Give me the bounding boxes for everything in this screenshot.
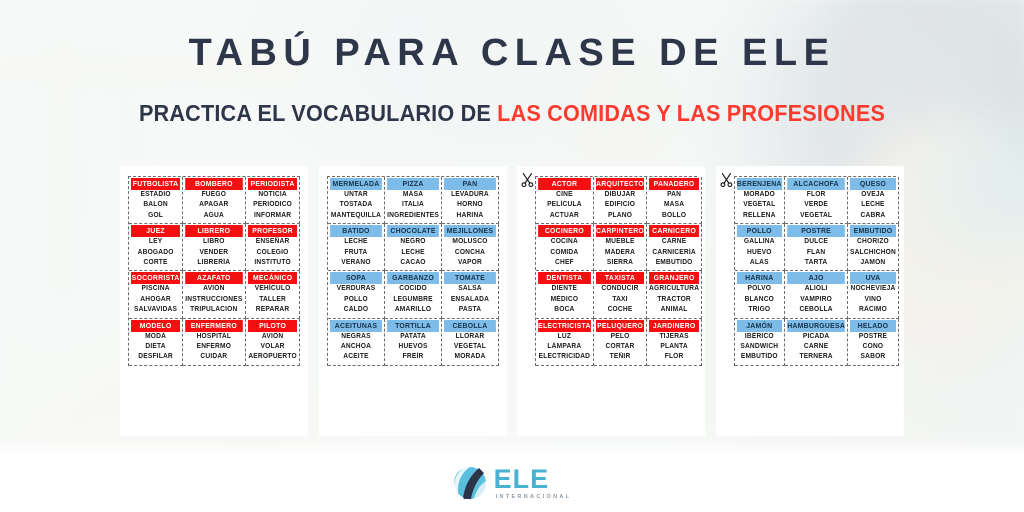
page-subtitle: PRACTICA EL VOCABULARIO DE LAS COMIDAS Y… xyxy=(31,100,994,127)
taboo-cell-forbidden-word: PERIÓDICO xyxy=(248,200,297,210)
taboo-card-cells: BERENJENAMORADOVEGETALRELLENAALCACHOFAFL… xyxy=(734,176,896,366)
taboo-cell-forbidden-word: AGUA xyxy=(185,211,242,221)
taboo-cell-keyword: PIZZA xyxy=(387,178,439,190)
taboo-cell: COCINEROCOCINACOMIDACHEF xyxy=(536,224,594,271)
taboo-cell-keyword: ACTOR xyxy=(538,178,591,190)
taboo-cell: MECÁNICOVEHÍCULOTALLERREPARAR xyxy=(246,271,300,318)
taboo-cell-keyword: ELECTRICISTA xyxy=(538,320,591,332)
taboo-cell-forbidden-word: NOTICIA xyxy=(248,190,297,200)
taboo-cell-forbidden-word: NOCHEVIEJA xyxy=(850,284,896,294)
taboo-cell: MERMELADAUNTARTOSTADAMANTEQUILLA xyxy=(328,177,385,224)
taboo-cell-forbidden-word: INGREDIENTES xyxy=(387,211,439,221)
taboo-cell: TOMATESALSAENSALADAPASTA xyxy=(442,271,499,318)
taboo-cell-forbidden-word: VENDER xyxy=(185,248,242,258)
taboo-cell-forbidden-word: APAGAR xyxy=(185,200,242,210)
taboo-cell-forbidden-word: ABOGADO xyxy=(131,248,180,258)
taboo-cell-forbidden-word: CINE xyxy=(538,190,591,200)
taboo-cell: CEBOLLALLORARVEGETALMORADA xyxy=(442,319,499,366)
taboo-cell-keyword: LIBRERO xyxy=(185,225,242,237)
taboo-cell-keyword: CARPINTERO xyxy=(596,225,644,237)
taboo-cell-forbidden-word: PASTA xyxy=(444,305,496,315)
taboo-cell-keyword: CHOCOLATE xyxy=(387,225,439,237)
taboo-cell-keyword: AJO xyxy=(787,272,845,284)
taboo-cell: PANLEVADURAHORNOHARINA xyxy=(442,177,499,224)
taboo-cell-forbidden-word: JAMÓN xyxy=(850,258,896,268)
taboo-cell-keyword: PILOTO xyxy=(248,320,297,332)
taboo-cell-forbidden-word: AMARILLO xyxy=(387,305,439,315)
taboo-cell-forbidden-word: FUEGO xyxy=(185,190,242,200)
taboo-cell-forbidden-word: INSTRUCCIONES xyxy=(185,295,242,305)
taboo-cell-forbidden-word: EMBUTIDO xyxy=(649,258,699,268)
taboo-cell-forbidden-word: BALÓN xyxy=(131,200,180,210)
taboo-cell-forbidden-word: MANTEQUILLA xyxy=(330,211,382,221)
taboo-cell-keyword: CEBOLLA xyxy=(444,320,496,332)
taboo-cell-forbidden-word: OVEJA xyxy=(850,190,896,200)
taboo-cell-forbidden-word: ANCHOA xyxy=(330,342,382,352)
taboo-cell: HAMBURGUESAPICADACARNETERNERA xyxy=(785,319,848,366)
logo-tagline: INTERNACIONAL xyxy=(496,495,572,500)
taboo-cell-forbidden-word: PELÍCULA xyxy=(538,200,591,210)
scissors-icon xyxy=(521,172,535,188)
scissors-icon xyxy=(720,172,734,188)
taboo-card: BERENJENAMORADOVEGETALRELLENAALCACHOFAFL… xyxy=(716,166,904,436)
taboo-cell-forbidden-word: FREÍR xyxy=(387,352,439,362)
taboo-cell-forbidden-word: VERANO xyxy=(330,258,382,268)
taboo-cell: PIZZAMASAITALIAINGREDIENTES xyxy=(385,177,442,224)
taboo-cell-forbidden-word: DESFILAR xyxy=(131,352,180,362)
taboo-cell-forbidden-word: CARNE xyxy=(787,342,845,352)
taboo-cell-forbidden-word: TRIGO xyxy=(737,305,782,315)
taboo-cell-forbidden-word: VAMPIRO xyxy=(787,295,845,305)
taboo-cell: PANADEROPANMASABOLLO xyxy=(647,177,702,224)
taboo-cell-keyword: ARQUITECTO xyxy=(596,178,644,190)
taboo-cell: QUESOOVEJALECHECABRA xyxy=(848,177,899,224)
taboo-cell: JUEZLEYABOGADOCORTE xyxy=(129,224,183,271)
taboo-cell-forbidden-word: PLANO xyxy=(596,211,644,221)
taboo-cell-forbidden-word: COCHE xyxy=(596,305,644,315)
taboo-cell-forbidden-word: CONDUCIR xyxy=(596,284,644,294)
taboo-cell-forbidden-word: GALLINA xyxy=(737,237,782,247)
taboo-cell: JAMÓNIBÉRICOSANDWICHEMBUTIDO xyxy=(735,319,785,366)
taboo-cell-forbidden-word: RACIMO xyxy=(850,305,896,315)
taboo-cell-keyword: SOCORRISTA xyxy=(131,272,180,284)
taboo-cell: ENFERMEROHOSPITALENFERMOCUIDAR xyxy=(183,319,246,366)
taboo-cell-forbidden-word: DULCE xyxy=(787,237,845,247)
taboo-cell-keyword: SOPA xyxy=(330,272,382,284)
taboo-cell-keyword: ENFERMERO xyxy=(185,320,242,332)
taboo-cell-forbidden-word: BOCA xyxy=(538,305,591,315)
taboo-cell: POSTREDULCEFLANTARTA xyxy=(785,224,848,271)
taboo-cell-forbidden-word: CUIDAR xyxy=(185,352,242,362)
taboo-cell-forbidden-word: CABRA xyxy=(850,211,896,221)
taboo-cell-forbidden-word: ACEITE xyxy=(330,352,382,362)
taboo-cell-forbidden-word: CHEF xyxy=(538,258,591,268)
taboo-cell: ACTORCINEPELÍCULAACTUAR xyxy=(536,177,594,224)
taboo-cell-forbidden-word: EDIFICIO xyxy=(596,200,644,210)
taboo-cell-forbidden-word: SALSA xyxy=(444,284,496,294)
taboo-cell-forbidden-word: AGRICULTURA xyxy=(649,284,699,294)
taboo-cell-keyword: MEJILLONES xyxy=(444,225,496,237)
taboo-cell-keyword: BOMBERO xyxy=(185,178,242,190)
taboo-cell-forbidden-word: DIBUJAR xyxy=(596,190,644,200)
taboo-cell-forbidden-word: FLOR xyxy=(649,352,699,362)
taboo-cell: TAXISTACONDUCIRTAXICOCHE xyxy=(594,271,647,318)
taboo-cell: MEJILLONESMOLUSCOCONCHAVAPOR xyxy=(442,224,499,271)
taboo-cell-forbidden-word: TRACTOR xyxy=(649,295,699,305)
taboo-cell-forbidden-word: INSTITUTO xyxy=(248,258,297,268)
taboo-card-cells: MERMELADAUNTARTOSTADAMANTEQUILLAPIZZAMAS… xyxy=(327,176,499,366)
taboo-cell-forbidden-word: COMIDA xyxy=(538,248,591,258)
taboo-cell: PILOTOAVIÓNVOLARAEROPUERTO xyxy=(246,319,300,366)
taboo-cell-forbidden-word: HUEVOS xyxy=(387,342,439,352)
taboo-cell-forbidden-word: ANIMAL xyxy=(649,305,699,315)
taboo-cell-forbidden-word: ALIOLI xyxy=(787,284,845,294)
taboo-cell-keyword: MERMELADA xyxy=(330,178,382,190)
taboo-cell-forbidden-word: IBÉRICO xyxy=(737,332,782,342)
taboo-cell-forbidden-word: BOLLO xyxy=(649,211,699,221)
taboo-cell-keyword: TORTILLA xyxy=(387,320,439,332)
taboo-cell: JARDINEROTIJERASPLANTAFLOR xyxy=(647,319,702,366)
taboo-cell-forbidden-word: CORTAR xyxy=(596,342,644,352)
taboo-cell-keyword: JARDINERO xyxy=(649,320,699,332)
page-title: TABÚ PARA CLASE DE ELE xyxy=(0,34,1024,74)
taboo-cell-keyword: FUTBOLISTA xyxy=(131,178,180,190)
taboo-cell-forbidden-word: LEY xyxy=(131,237,180,247)
taboo-cell-forbidden-word: LEVADURA xyxy=(444,190,496,200)
taboo-cell: CHOCOLATENEGROLECHECACAO xyxy=(385,224,442,271)
taboo-cell-forbidden-word: PAN xyxy=(649,190,699,200)
taboo-cell-keyword: UVA xyxy=(850,272,896,284)
taboo-cell-keyword: POSTRE xyxy=(787,225,845,237)
taboo-cell-forbidden-word: AHOGAR xyxy=(131,295,180,305)
taboo-cell-keyword: MECÁNICO xyxy=(248,272,297,284)
taboo-cell-forbidden-word: VERDURAS xyxy=(330,284,382,294)
taboo-cell: UVANOCHEVIEJAVINORACIMO xyxy=(848,271,899,318)
taboo-card-cells: ACTORCINEPELÍCULAACTUARARQUITECTODIBUJAR… xyxy=(535,176,697,366)
taboo-cell-forbidden-word: VOLAR xyxy=(248,342,297,352)
taboo-cell-forbidden-word: CALDO xyxy=(330,305,382,315)
taboo-cell-keyword: HARINA xyxy=(737,272,782,284)
taboo-cell-forbidden-word: LEGUMBRE xyxy=(387,295,439,305)
taboo-cell-forbidden-word: LÁMPARA xyxy=(538,342,591,352)
taboo-cell-forbidden-word: TARTA xyxy=(787,258,845,268)
poster-canvas: TABÚ PARA CLASE DE ELE PRACTICA EL VOCAB… xyxy=(0,0,1024,512)
taboo-cell-forbidden-word: HARINA xyxy=(444,211,496,221)
taboo-cell-forbidden-word: LIBRO xyxy=(185,237,242,247)
taboo-cell-forbidden-word: HUEVO xyxy=(737,248,782,258)
taboo-cell-forbidden-word: MÉDICO xyxy=(538,295,591,305)
taboo-cell-keyword: POLLO xyxy=(737,225,782,237)
taboo-cell-keyword: COCINERO xyxy=(538,225,591,237)
taboo-cell-forbidden-word: VAPOR xyxy=(444,258,496,268)
taboo-cell-forbidden-word: FLAN xyxy=(787,248,845,258)
taboo-cell: ACEITUNASNEGRASANCHOAACEITE xyxy=(328,319,385,366)
taboo-cell-forbidden-word: FRUTA xyxy=(330,248,382,258)
taboo-cell: AZAFATOAVIÓNINSTRUCCIONESTRIPULACIÓN xyxy=(183,271,246,318)
taboo-cell-keyword: HELADO xyxy=(850,320,896,332)
taboo-cell-keyword: PERIODISTA xyxy=(248,178,297,190)
taboo-cell-forbidden-word: COCIDO xyxy=(387,284,439,294)
taboo-card-grid: FUTBOLISTAESTADIOBALÓNGOLBOMBEROFUEGOAPA… xyxy=(120,166,904,436)
taboo-cell-keyword: AZAFATO xyxy=(185,272,242,284)
taboo-cell-forbidden-word: AEROPUERTO xyxy=(248,352,297,362)
taboo-cell-keyword: JAMÓN xyxy=(737,320,782,332)
taboo-cell-forbidden-word: LLORAR xyxy=(444,332,496,342)
taboo-cell: PERIODISTANOTICIAPERIÓDICOINFORMAR xyxy=(246,177,300,224)
taboo-cell-forbidden-word: TIJERAS xyxy=(649,332,699,342)
taboo-cell-forbidden-word: TAXI xyxy=(596,295,644,305)
taboo-cell-keyword: BERENJENA xyxy=(737,178,782,190)
taboo-cell-forbidden-word: TERNERA xyxy=(787,352,845,362)
taboo-cell-forbidden-word: COCINA xyxy=(538,237,591,247)
taboo-cell-forbidden-word: HORNO xyxy=(444,200,496,210)
taboo-cell: CARPINTEROMUEBLEMADERASIERRA xyxy=(594,224,647,271)
taboo-cell-forbidden-word: MASA xyxy=(649,200,699,210)
taboo-cell-keyword: PANADERO xyxy=(649,178,699,190)
taboo-cell: FUTBOLISTAESTADIOBALÓNGOL xyxy=(129,177,183,224)
taboo-cell-forbidden-word: DIENTE xyxy=(538,284,591,294)
taboo-card: ACTORCINEPELÍCULAACTUARARQUITECTODIBUJAR… xyxy=(517,166,705,436)
taboo-cell-forbidden-word: UNTAR xyxy=(330,190,382,200)
taboo-cell-forbidden-word: POLVO xyxy=(737,284,782,294)
taboo-cell-forbidden-word: CONO xyxy=(850,342,896,352)
taboo-card-cells: FUTBOLISTAESTADIOBALÓNGOLBOMBEROFUEGOAPA… xyxy=(128,176,300,366)
taboo-cell-keyword: CARNICERO xyxy=(649,225,699,237)
taboo-cell: PELUQUEROPELOCORTARTEÑIR xyxy=(594,319,647,366)
taboo-cell-keyword: TOMATE xyxy=(444,272,496,284)
taboo-cell: SOPAVERDURASPOLLOCALDO xyxy=(328,271,385,318)
taboo-cell-forbidden-word: ACTUAR xyxy=(538,211,591,221)
taboo-cell-forbidden-word: LIBRERÍA xyxy=(185,258,242,268)
taboo-cell-keyword: TAXISTA xyxy=(596,272,644,284)
taboo-cell-forbidden-word: MORADA xyxy=(444,352,496,362)
taboo-cell-forbidden-word: POSTRE xyxy=(850,332,896,342)
subtitle-highlight-text: LAS COMIDAS Y LAS PROFESIONES xyxy=(497,100,885,126)
taboo-cell-forbidden-word: TEÑIR xyxy=(596,352,644,362)
taboo-cell: CARNICEROCARNECARNICERÍAEMBUTIDO xyxy=(647,224,702,271)
poster-header: TABÚ PARA CLASE DE ELE PRACTICA EL VOCAB… xyxy=(0,34,1024,127)
logo-text-block: ELE INTERNACIONAL xyxy=(494,466,572,500)
taboo-cell: ARQUITECTODIBUJAREDIFICIOPLANO xyxy=(594,177,647,224)
taboo-card: FUTBOLISTAESTADIOBALÓNGOLBOMBEROFUEGOAPA… xyxy=(120,166,308,436)
taboo-cell-forbidden-word: TRIPULACIÓN xyxy=(185,305,242,315)
taboo-cell-forbidden-word: ALAS xyxy=(737,258,782,268)
taboo-cell: TORTILLAPATATAHUEVOSFREÍR xyxy=(385,319,442,366)
taboo-cell-forbidden-word: VEGETAL xyxy=(737,200,782,210)
taboo-cell-forbidden-word: PICADA xyxy=(787,332,845,342)
taboo-cell-forbidden-word: COLEGIO xyxy=(248,248,297,258)
taboo-cell-forbidden-word: MASA xyxy=(387,190,439,200)
taboo-cell-forbidden-word: MORADO xyxy=(737,190,782,200)
taboo-cell-forbidden-word: CACAO xyxy=(387,258,439,268)
brand-logo: ELE INTERNACIONAL xyxy=(0,466,1024,500)
taboo-cell-forbidden-word: MODA xyxy=(131,332,180,342)
taboo-cell: DENTISTADIENTEMÉDICOBOCA xyxy=(536,271,594,318)
taboo-cell-keyword: ALCACHOFA xyxy=(787,178,845,190)
taboo-cell-keyword: PROFESOR xyxy=(248,225,297,237)
taboo-cell-forbidden-word: FLOR xyxy=(787,190,845,200)
taboo-cell-forbidden-word: VERDE xyxy=(787,200,845,210)
taboo-cell-forbidden-word: ESTADIO xyxy=(131,190,180,200)
taboo-cell: MODELOMODADIETADESFILAR xyxy=(129,319,183,366)
taboo-cell: GRANJEROAGRICULTURATRACTORANIMAL xyxy=(647,271,702,318)
taboo-cell: BERENJENAMORADOVEGETALRELLENA xyxy=(735,177,785,224)
taboo-cell-forbidden-word: LECHE xyxy=(330,237,382,247)
taboo-cell-forbidden-word: ENSALADA xyxy=(444,295,496,305)
taboo-cell-keyword: MODELO xyxy=(131,320,180,332)
taboo-cell-keyword: HAMBURGUESA xyxy=(787,320,845,332)
taboo-cell-forbidden-word: CORTE xyxy=(131,258,180,268)
taboo-cell-forbidden-word: GOL xyxy=(131,211,180,221)
taboo-cell-forbidden-word: VINO xyxy=(850,295,896,305)
taboo-cell-keyword: PELUQUERO xyxy=(596,320,644,332)
subtitle-plain-text: PRACTICA EL VOCABULARIO DE xyxy=(139,100,497,126)
taboo-cell-forbidden-word: PLANTA xyxy=(649,342,699,352)
taboo-cell: POLLOGALLINAHUEVOALAS xyxy=(735,224,785,271)
taboo-cell: HELADOPOSTRECONOSABOR xyxy=(848,319,899,366)
taboo-cell-keyword: BATIDO xyxy=(330,225,382,237)
taboo-cell-forbidden-word: NEGRO xyxy=(387,237,439,247)
taboo-cell-forbidden-word: SALVAVIDAS xyxy=(131,305,180,315)
taboo-cell-forbidden-word: TALLER xyxy=(248,295,297,305)
taboo-cell-forbidden-word: ITALIA xyxy=(387,200,439,210)
taboo-cell-forbidden-word: RELLENA xyxy=(737,211,782,221)
taboo-cell: LIBREROLIBROVENDERLIBRERÍA xyxy=(183,224,246,271)
taboo-cell-forbidden-word: PATATA xyxy=(387,332,439,342)
taboo-cell-forbidden-word: CEBOLLA xyxy=(787,305,845,315)
taboo-card: MERMELADAUNTARTOSTADAMANTEQUILLAPIZZAMAS… xyxy=(319,166,507,436)
taboo-cell: ELECTRICISTALUZLÁMPARAELECTRICIDAD xyxy=(536,319,594,366)
taboo-cell-forbidden-word: AVIÓN xyxy=(248,332,297,342)
taboo-cell-forbidden-word: AVIÓN xyxy=(185,284,242,294)
logo-wordmark: ELE xyxy=(494,466,572,493)
taboo-cell-forbidden-word: ELECTRICIDAD xyxy=(538,352,591,362)
taboo-cell: EMBUTIDOCHORIZOSALCHICHÓNJAMÓN xyxy=(848,224,899,271)
taboo-cell-forbidden-word: PELO xyxy=(596,332,644,342)
taboo-cell: BOMBEROFUEGOAPAGARAGUA xyxy=(183,177,246,224)
taboo-cell: AJOALIOLIVAMPIROCEBOLLA xyxy=(785,271,848,318)
taboo-cell-keyword: ACEITUNAS xyxy=(330,320,382,332)
taboo-cell-forbidden-word: HOSPITAL xyxy=(185,332,242,342)
taboo-cell: HARINAPOLVOBLANCOTRIGO xyxy=(735,271,785,318)
taboo-cell-forbidden-word: VEGETAL xyxy=(444,342,496,352)
footer-fade xyxy=(0,440,1024,454)
taboo-cell-forbidden-word: PISCINA xyxy=(131,284,180,294)
taboo-cell-keyword: QUESO xyxy=(850,178,896,190)
taboo-cell-keyword: PAN xyxy=(444,178,496,190)
taboo-cell-forbidden-word: CARNICERÍA xyxy=(649,248,699,258)
taboo-cell-forbidden-word: MUEBLE xyxy=(596,237,644,247)
taboo-cell-forbidden-word: SANDWICH xyxy=(737,342,782,352)
taboo-cell-forbidden-word: EMBUTIDO xyxy=(737,352,782,362)
taboo-cell: BATIDOLECHEFRUTAVERANO xyxy=(328,224,385,271)
taboo-cell: SOCORRISTAPISCINAAHOGARSALVAVIDAS xyxy=(129,271,183,318)
taboo-cell-forbidden-word: LECHE xyxy=(387,248,439,258)
taboo-cell: GARBANZOCOCIDOLEGUMBREAMARILLO xyxy=(385,271,442,318)
taboo-cell: PROFESORENSEÑARCOLEGIOINSTITUTO xyxy=(246,224,300,271)
taboo-cell-keyword: JUEZ xyxy=(131,225,180,237)
taboo-cell-keyword: DENTISTA xyxy=(538,272,591,284)
taboo-cell: ALCACHOFAFLORVERDEVEGETAL xyxy=(785,177,848,224)
taboo-cell-forbidden-word: INFORMAR xyxy=(248,211,297,221)
taboo-cell-forbidden-word: CARNE xyxy=(649,237,699,247)
taboo-cell-forbidden-word: VEHÍCULO xyxy=(248,284,297,294)
taboo-cell-forbidden-word: SABOR xyxy=(850,352,896,362)
taboo-cell-forbidden-word: LUZ xyxy=(538,332,591,342)
taboo-cell-forbidden-word: NEGRAS xyxy=(330,332,382,342)
taboo-cell-keyword: EMBUTIDO xyxy=(850,225,896,237)
taboo-cell-forbidden-word: POLLO xyxy=(330,295,382,305)
globe-icon xyxy=(453,466,487,500)
taboo-cell-keyword: GRANJERO xyxy=(649,272,699,284)
taboo-cell-forbidden-word: SIERRA xyxy=(596,258,644,268)
taboo-cell-forbidden-word: BLANCO xyxy=(737,295,782,305)
taboo-cell-forbidden-word: DIETA xyxy=(131,342,180,352)
taboo-cell-forbidden-word: VEGETAL xyxy=(787,211,845,221)
taboo-cell-forbidden-word: CONCHA xyxy=(444,248,496,258)
taboo-cell-forbidden-word: SALCHICHÓN xyxy=(850,248,896,258)
taboo-cell-forbidden-word: REPARAR xyxy=(248,305,297,315)
taboo-cell-keyword: GARBANZO xyxy=(387,272,439,284)
taboo-cell-forbidden-word: LECHE xyxy=(850,200,896,210)
taboo-cell-forbidden-word: CHORIZO xyxy=(850,237,896,247)
taboo-cell-forbidden-word: MOLUSCO xyxy=(444,237,496,247)
taboo-cell-forbidden-word: TOSTADA xyxy=(330,200,382,210)
taboo-cell-forbidden-word: ENFERMO xyxy=(185,342,242,352)
taboo-cell-forbidden-word: ENSEÑAR xyxy=(248,237,297,247)
taboo-cell-forbidden-word: MADERA xyxy=(596,248,644,258)
